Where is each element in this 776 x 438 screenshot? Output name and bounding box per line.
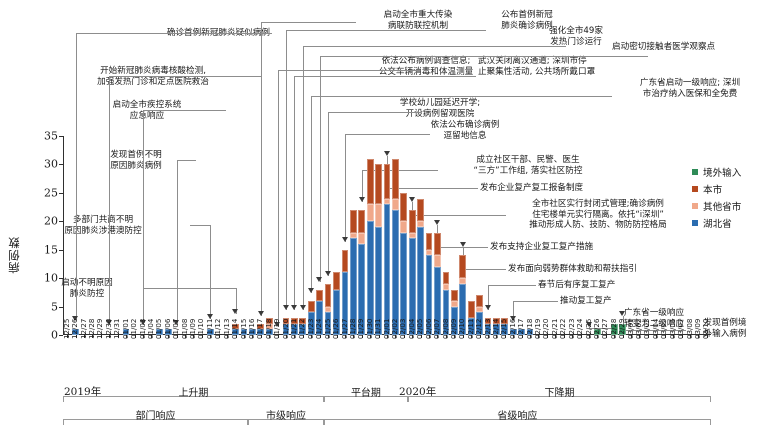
annotation-a10: 启动密切接触者医学观察点 xyxy=(612,42,772,53)
x-tick-label: 01/17 xyxy=(256,319,263,339)
x-tick-label: 12/29 xyxy=(96,319,103,339)
x-tick-label: 01/19 xyxy=(273,319,280,339)
bar-segment xyxy=(350,210,357,233)
x-tick-label: 02/17 xyxy=(517,319,524,339)
bar-segment xyxy=(350,233,357,239)
phase-bracket: 部门响应 xyxy=(63,419,248,428)
bar xyxy=(417,199,424,335)
x-tick-label: 02/20 xyxy=(542,319,549,339)
phase-bracket: 市级响应 xyxy=(248,419,324,428)
bar-segment xyxy=(417,221,424,227)
bar-segment xyxy=(384,164,391,198)
x-tick-label: 01/11 xyxy=(206,319,213,339)
bar-segment xyxy=(375,164,382,204)
bar-segment xyxy=(459,278,466,284)
x-tick-label: 02/19 xyxy=(534,319,541,339)
bar-segment xyxy=(325,284,332,307)
x-tick-label: 02/15 xyxy=(500,319,507,339)
x-tick-label: 01/23 xyxy=(307,319,314,339)
legend-swatch-icon xyxy=(692,186,698,192)
bar-segment xyxy=(443,272,450,283)
x-tick-label: 01/02 xyxy=(130,319,137,339)
x-tick-label: 01/12 xyxy=(214,319,221,339)
bar-segment xyxy=(316,290,323,301)
x-tick-label: 01/04 xyxy=(147,319,154,339)
phase-label: 平台期 xyxy=(324,384,408,399)
legend-item[interactable]: 湖北省 xyxy=(692,215,741,230)
bar-segment xyxy=(400,221,407,232)
phase-bracket: 省级响应 xyxy=(324,419,711,428)
bar-segment xyxy=(434,255,441,266)
x-tick-label: 01/25 xyxy=(324,319,331,339)
bar-segment xyxy=(400,193,407,221)
legend-label: 本市 xyxy=(703,182,722,196)
bar-segment xyxy=(476,307,483,313)
leader-line xyxy=(328,112,418,113)
y-tick-label: 20 xyxy=(44,216,58,227)
x-tick-label: 01/03 xyxy=(138,319,145,339)
bar xyxy=(375,164,382,335)
x-tick-label: 02/29 xyxy=(618,319,625,339)
bar-segment xyxy=(342,250,349,273)
x-tick-label: 01/14 xyxy=(231,319,238,339)
x-tick-label: 01/05 xyxy=(155,319,162,339)
x-tick-label: 03/05 xyxy=(660,319,667,339)
bar-segment xyxy=(358,233,365,244)
legend-swatch-icon xyxy=(692,220,698,226)
x-tick-label: 01/13 xyxy=(223,319,230,339)
x-tick-label: 12/25 xyxy=(63,319,70,339)
phase-label: 市级响应 xyxy=(248,407,324,422)
x-tick-label: 01/29 xyxy=(357,319,364,339)
x-tick-label: 12/27 xyxy=(80,319,87,339)
bar-segment xyxy=(392,199,399,210)
x-tick-label: 02/27 xyxy=(601,319,608,339)
phase-label: 省级响应 xyxy=(324,407,711,422)
x-tick-label: 02/14 xyxy=(492,319,499,339)
y-axis-label: 病例数 xyxy=(6,236,22,274)
phase-label: 部门响应 xyxy=(63,407,248,422)
bar xyxy=(400,193,407,335)
x-tick-label: 01/08 xyxy=(181,319,188,339)
legend-label: 湖北省 xyxy=(703,216,732,230)
phase-label: 下降期 xyxy=(408,384,711,399)
bar-segment xyxy=(409,233,416,239)
bar-segment xyxy=(358,210,365,233)
legend-item[interactable]: 其他省市 xyxy=(692,198,741,213)
x-tick-label: 01/28 xyxy=(349,319,356,339)
annotation-a12: 武汉关闭离汉通道; 深圳市停 止聚集性活动, 公共场所戴口罩 xyxy=(478,56,668,77)
epidemic-curve-figure: 确诊首例新冠肺炎疑似病例 开始新冠肺炎病毒核酸检测, 加强发热门诊和定点医院救治… xyxy=(0,0,776,438)
x-tick-label: 01/16 xyxy=(248,319,255,339)
bar-segment xyxy=(392,159,399,199)
phase-bracket: 上升期 xyxy=(63,396,324,405)
x-tick-label: 02/08 xyxy=(441,319,448,339)
x-tick-label: 01/20 xyxy=(282,319,289,339)
x-tick-label: 03/03 xyxy=(643,319,650,339)
leader-line xyxy=(278,70,420,71)
leader-line xyxy=(109,76,262,77)
bar-chart-plot-area xyxy=(63,136,711,335)
legend-swatch-icon xyxy=(692,203,698,209)
x-tick-label: 12/26 xyxy=(71,319,78,339)
x-tick-label: 02/04 xyxy=(408,319,415,339)
leader-line xyxy=(320,56,648,57)
x-axis: 12/2512/2612/2712/2812/2912/3012/3101/01… xyxy=(63,335,711,381)
x-tick-label: 02/10 xyxy=(458,319,465,339)
legend-swatch-icon xyxy=(692,169,698,175)
x-tick-label: 02/09 xyxy=(450,319,457,339)
bar-segment xyxy=(451,301,458,307)
bar-segment xyxy=(451,290,458,301)
y-tick-label: 25 xyxy=(44,187,58,198)
bar-segment xyxy=(468,301,475,318)
x-tick-label: 02/24 xyxy=(576,319,583,339)
x-tick-label: 01/09 xyxy=(189,319,196,339)
y-tick-label: 0 xyxy=(51,330,58,341)
x-tick-label: 02/05 xyxy=(416,319,423,339)
x-tick-label: 03/09 xyxy=(694,319,701,339)
bar-segment xyxy=(325,307,332,313)
bar xyxy=(350,210,357,335)
annotation-a07: 启动全市重大传染 病联防联控机制 xyxy=(358,10,478,31)
bar xyxy=(358,210,365,335)
x-tick-label: 03/10 xyxy=(702,319,709,339)
bar-segment xyxy=(384,199,391,205)
bar-segment xyxy=(426,233,433,250)
x-tick-label: 12/31 xyxy=(113,319,120,339)
x-tick-label: 02/12 xyxy=(475,319,482,339)
bar-segment xyxy=(367,159,374,204)
x-tick-label: 03/02 xyxy=(635,319,642,339)
bar xyxy=(409,210,416,335)
phase-label: 上升期 xyxy=(63,384,324,399)
leader-line xyxy=(311,96,612,97)
bar-segment xyxy=(367,204,374,221)
legend-label: 境外输入 xyxy=(703,165,741,179)
x-tick-label: 02/26 xyxy=(593,319,600,339)
x-tick-label: 01/27 xyxy=(340,319,347,339)
x-tick-label: 12/28 xyxy=(88,319,95,339)
bar-segment xyxy=(375,204,382,227)
x-tick-label: 02/07 xyxy=(433,319,440,339)
x-tick-label: 02/16 xyxy=(509,319,516,339)
bar-segment xyxy=(434,233,441,256)
x-tick-label: 03/04 xyxy=(652,319,659,339)
leader-line xyxy=(303,46,566,47)
leader-line xyxy=(261,22,356,23)
bar-segment xyxy=(384,204,391,335)
x-tick-label: 03/06 xyxy=(669,319,676,339)
bar-segment xyxy=(333,272,340,289)
x-tick-label: 02/02 xyxy=(391,319,398,339)
x-tick-label: 01/18 xyxy=(265,319,272,339)
x-tick-label: 01/24 xyxy=(315,319,322,339)
x-tick-label: 02/18 xyxy=(526,319,533,339)
x-tick-label: 02/11 xyxy=(467,319,474,339)
x-tick-label: 02/01 xyxy=(383,319,390,339)
legend-item[interactable]: 本市 xyxy=(692,181,741,196)
leader-line xyxy=(286,30,486,31)
x-tick-label: 01/21 xyxy=(290,319,297,339)
bar-segment xyxy=(476,295,483,306)
y-tick-label: 35 xyxy=(44,131,58,142)
bar-segment xyxy=(417,199,424,222)
annotation-a14: 学校幼儿园延迟开学; 开设病例留观医院 xyxy=(370,98,510,119)
bar xyxy=(392,159,399,335)
leader-line xyxy=(294,76,476,77)
x-tick-label: 01/30 xyxy=(366,319,373,339)
leader-line xyxy=(143,110,226,111)
bar-segment xyxy=(308,301,315,312)
bar-segment xyxy=(392,210,399,335)
annotation-a13: 广东省启动一级响应; 深圳 市治疗纳入医保和全免费 xyxy=(608,78,772,99)
bar xyxy=(384,164,391,335)
x-tick-label: 01/26 xyxy=(332,319,339,339)
x-tick-label: 01/07 xyxy=(172,319,179,339)
y-tick-label: 15 xyxy=(44,244,58,255)
x-tick-label: 02/28 xyxy=(610,319,617,339)
x-tick-label: 02/21 xyxy=(551,319,558,339)
leader-line xyxy=(76,33,272,34)
bar-segment xyxy=(443,284,450,290)
bar-segment xyxy=(409,210,416,233)
x-tick-label: 03/07 xyxy=(677,319,684,339)
x-tick-label: 03/08 xyxy=(685,319,692,339)
x-tick-label: 02/23 xyxy=(568,319,575,339)
legend: 境外输入本市其他省市湖北省 xyxy=(692,164,741,232)
bar-segment xyxy=(459,255,466,278)
bar-segment xyxy=(426,250,433,256)
annotation-a09: 强化全市49家 发热门诊运行 xyxy=(528,26,624,47)
bar xyxy=(367,159,374,335)
x-tick-label: 01/10 xyxy=(197,319,204,339)
x-tick-label: 02/22 xyxy=(559,319,566,339)
x-tick-label: 03/01 xyxy=(627,319,634,339)
y-tick-label: 5 xyxy=(51,301,58,312)
y-tick-label: 10 xyxy=(44,273,58,284)
phase-bracket: 下降期 xyxy=(408,396,711,405)
x-tick-label: 01/01 xyxy=(122,319,129,339)
x-tick-label: 02/03 xyxy=(399,319,406,339)
x-tick-label: 01/15 xyxy=(239,319,246,339)
x-tick-label: 02/25 xyxy=(584,319,591,339)
x-tick-label: 01/22 xyxy=(298,319,305,339)
x-tick-label: 02/13 xyxy=(483,319,490,339)
x-tick-label: 12/30 xyxy=(105,319,112,339)
x-tick-label: 01/31 xyxy=(374,319,381,339)
phase-bracket: 平台期 xyxy=(324,396,408,405)
legend-item[interactable]: 境外输入 xyxy=(692,164,741,179)
legend-label: 其他省市 xyxy=(703,199,741,213)
x-tick-label: 01/06 xyxy=(164,319,171,339)
leader-line xyxy=(345,134,430,135)
x-tick-label: 02/06 xyxy=(425,319,432,339)
y-tick-label: 30 xyxy=(44,159,58,170)
